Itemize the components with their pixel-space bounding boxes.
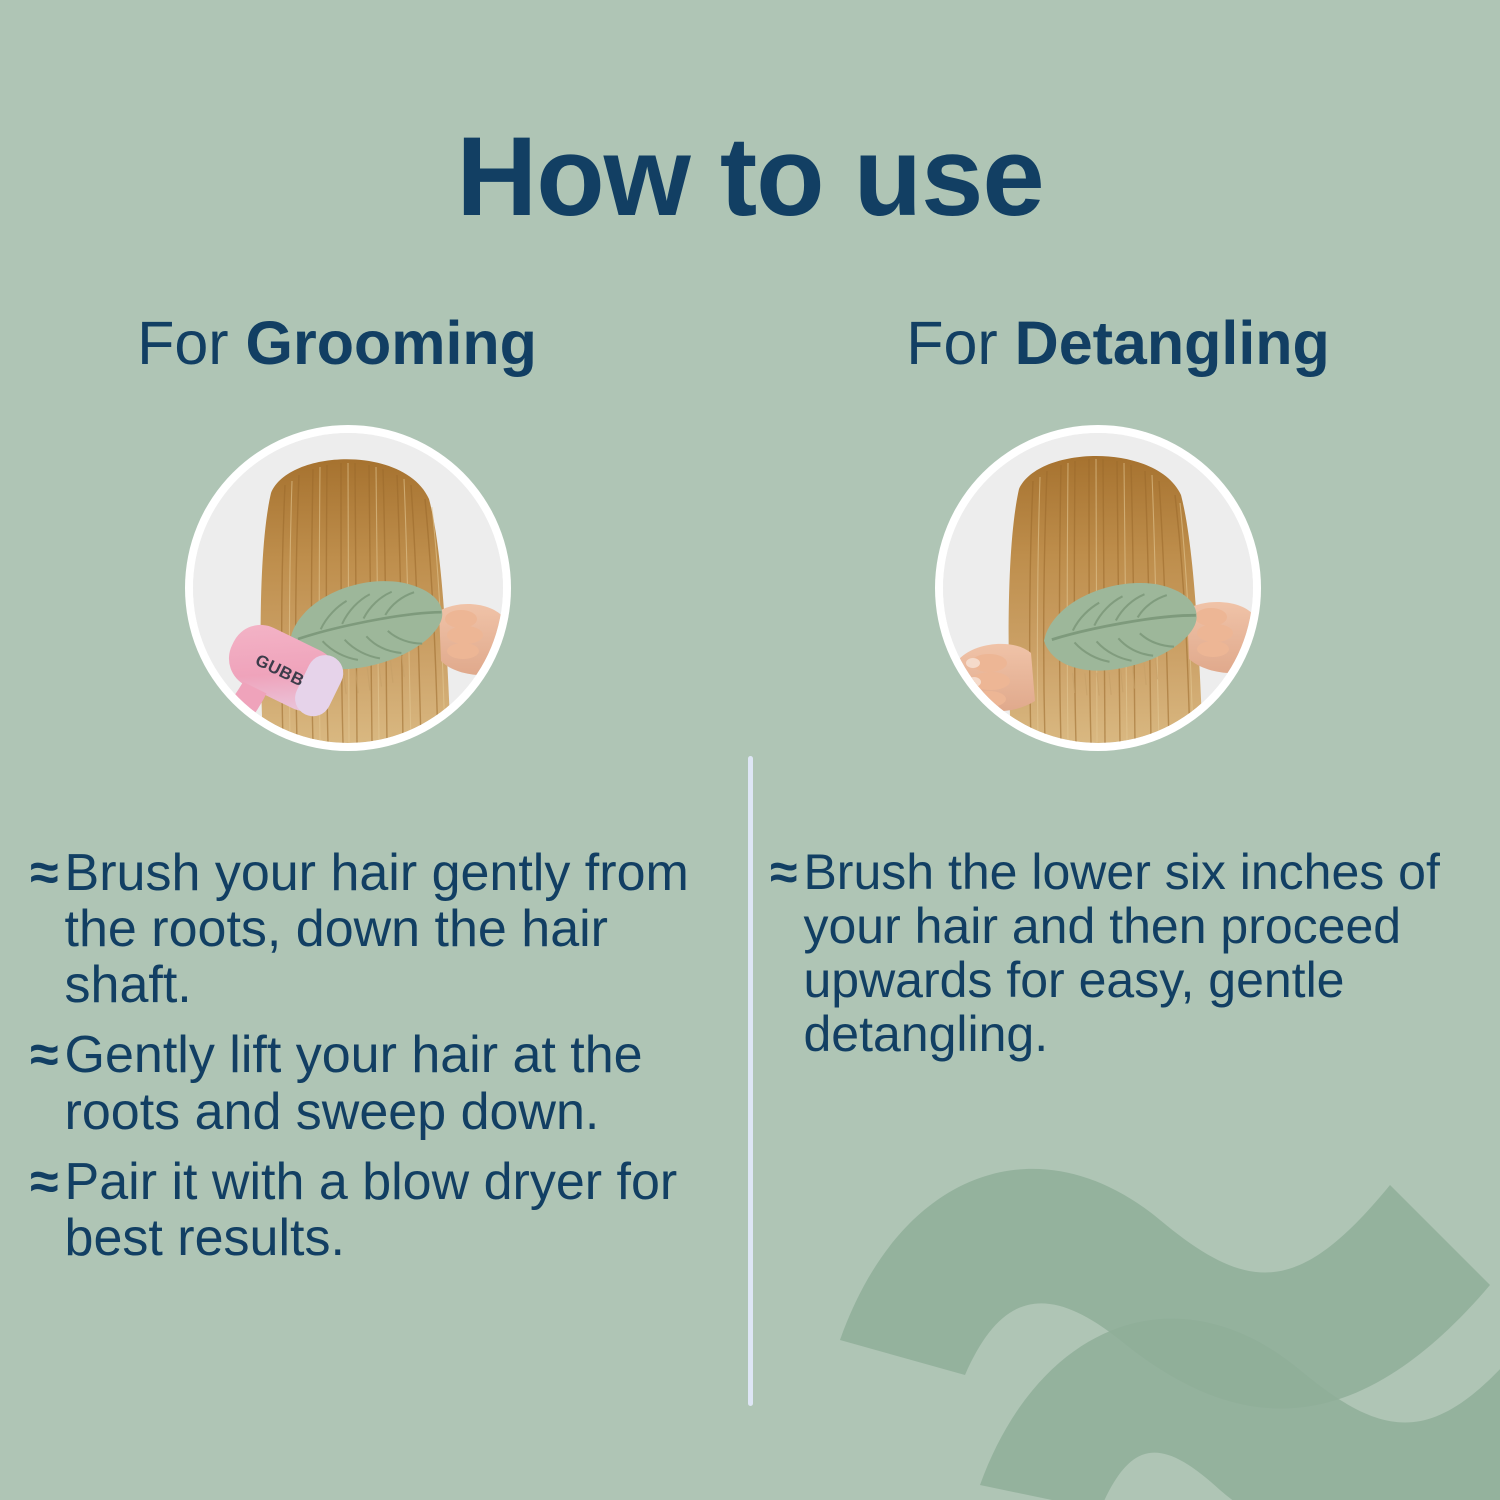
list-item-text: Pair it with a blow dryer for best resul… [65,1154,710,1266]
photo-circle-detangling [935,425,1261,751]
photo-circle-grooming: GUBB [185,425,511,751]
wave-bullet-icon: ≈ [770,845,797,899]
column-heading-prefix: For [137,309,245,377]
list-item: ≈ Brush the lower six inches of your hai… [770,845,1460,1061]
list-item-text: Gently lift your hair at the roots and s… [65,1027,710,1139]
photo-grooming: GUBB [193,433,503,743]
wave-bullet-icon: ≈ [30,845,59,901]
page-title: How to use [0,118,1500,236]
bullet-list-grooming: ≈ Brush your hair gently from the roots,… [30,845,710,1266]
list-item-text: Brush the lower six inches of your hair … [803,845,1460,1061]
column-heading-strong: Detangling [1015,309,1330,377]
column-heading-detangling: For Detangling [743,310,1493,377]
list-item: ≈ Gently lift your hair at the roots and… [30,1027,710,1139]
photo-detangling [943,433,1253,743]
list-item: ≈ Brush your hair gently from the roots,… [30,845,710,1013]
column-heading-strong: Grooming [246,309,537,377]
column-heading-grooming: For Grooming [0,310,712,377]
column-heading-prefix: For [906,309,1014,377]
poster-canvas: How to use For Grooming [0,0,1500,1500]
wave-bullet-icon: ≈ [30,1027,59,1083]
list-item-text: Brush your hair gently from the roots, d… [65,845,710,1013]
column-grooming: For Grooming [0,300,750,1500]
list-item: ≈ Pair it with a blow dryer for best res… [30,1154,710,1266]
wave-bullet-icon: ≈ [30,1154,59,1210]
vertical-divider [748,756,753,1406]
bullet-list-detangling: ≈ Brush the lower six inches of your hai… [770,845,1460,1061]
column-detangling: For Detangling [750,300,1500,1500]
